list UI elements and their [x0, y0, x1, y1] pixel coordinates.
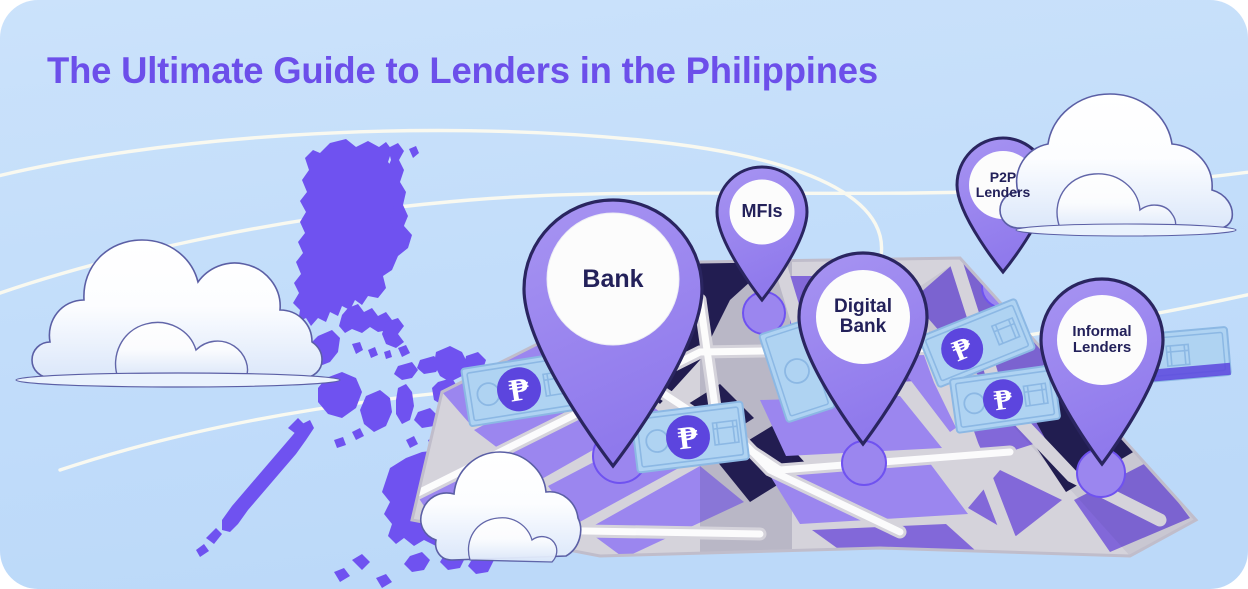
illustration-stage: ₱ ₱: [0, 0, 1248, 589]
page-title: The Ultimate Guide to Lenders in the Phi…: [47, 50, 878, 92]
